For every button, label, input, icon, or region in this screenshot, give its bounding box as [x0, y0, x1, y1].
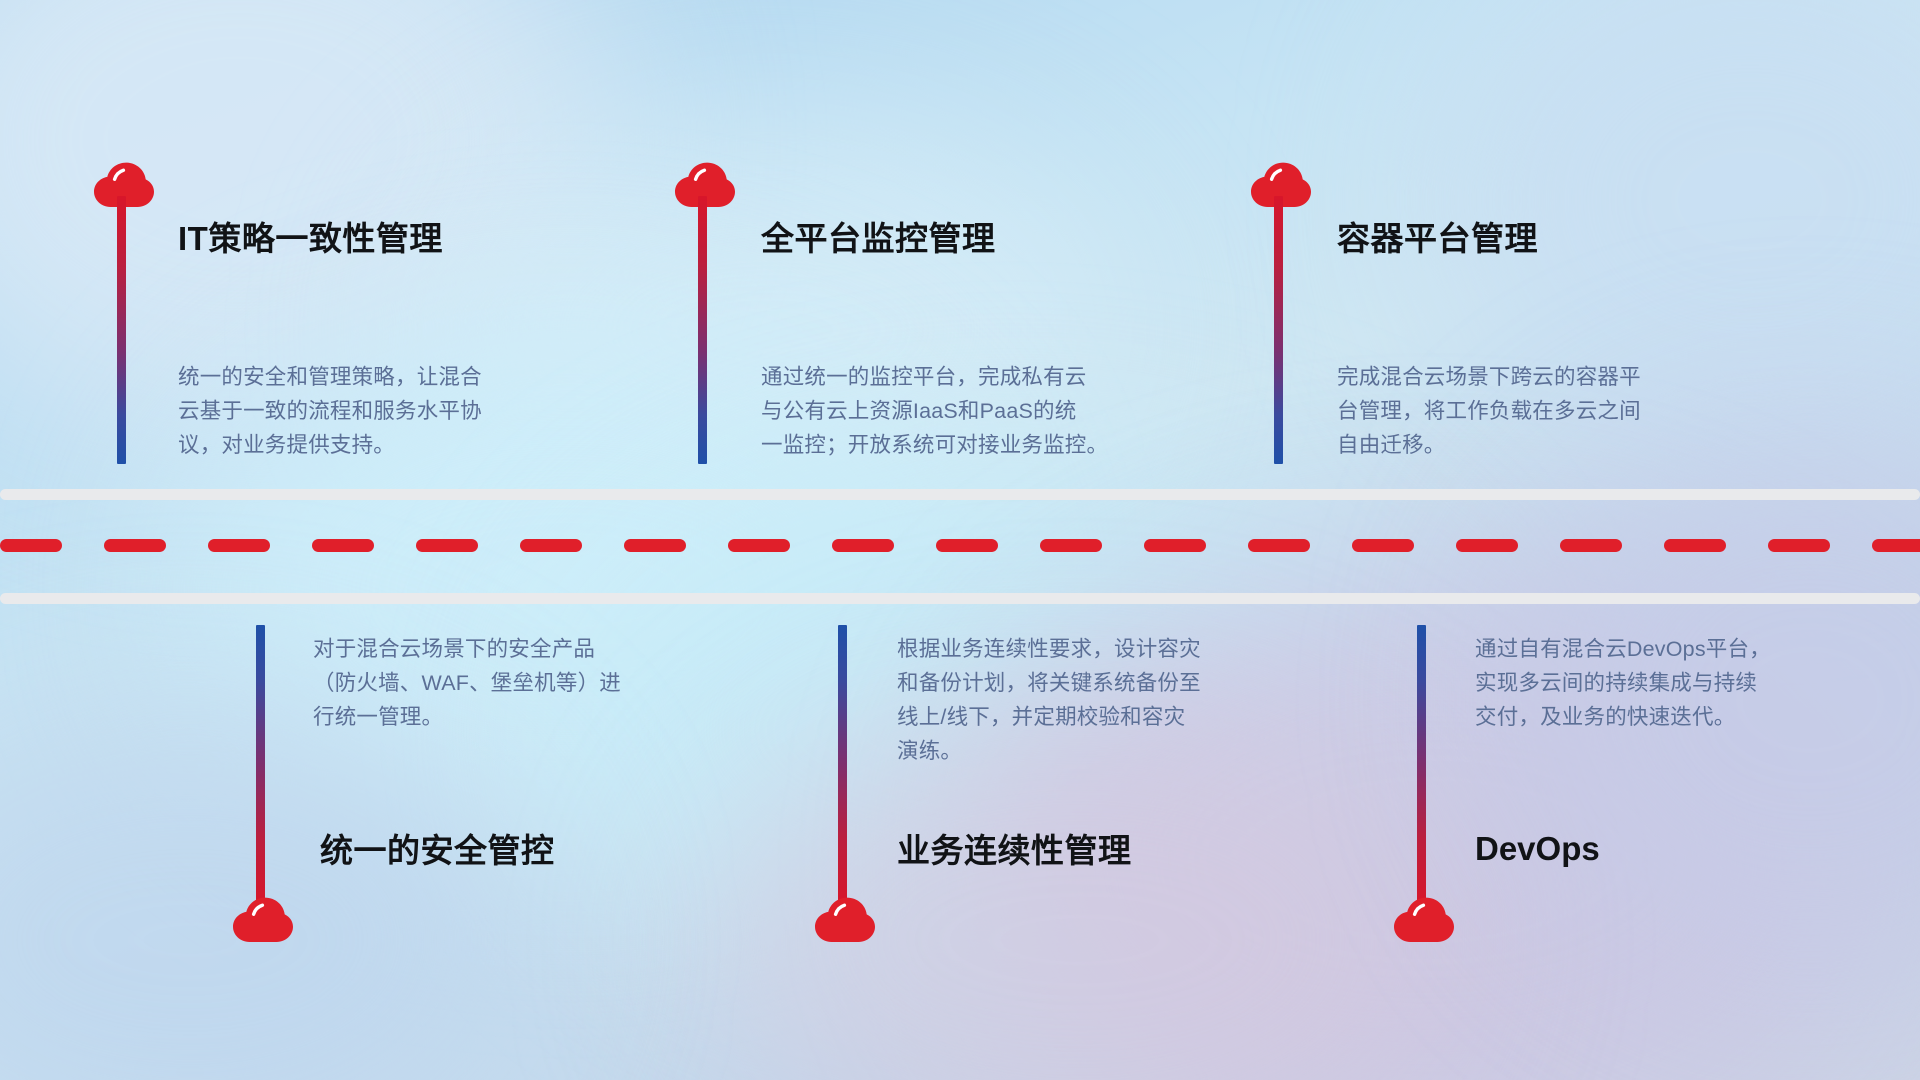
bottom-title-2: 业务连续性管理 — [897, 834, 1132, 867]
road-dash-segment — [520, 539, 582, 552]
top-title-3: 容器平台管理 — [1337, 222, 1538, 255]
top-body-2: 通过统一的监控平台，完成私有云 与公有云上资源IaaS和PaaS的统 一监控；开… — [761, 360, 1201, 462]
bottom-body-1: 对于混合云场景下的安全产品 （防火墙、WAF、堡垒机等）进 行统一管理。 — [313, 632, 743, 734]
connector-stem — [1274, 196, 1283, 464]
road-dash-segment — [1768, 539, 1830, 552]
road-dash-segment — [208, 539, 270, 552]
road-center-dashed-line — [0, 539, 1920, 552]
top-body-3: 完成混合云场景下跨云的容器平 台管理，将工作负载在多云之间 自由迁移。 — [1337, 360, 1777, 462]
road-line-lower — [0, 593, 1920, 604]
bottom-body-3: 通过自有混合云DevOps平台， 实现多云间的持续集成与持续 交付，及业务的快速… — [1475, 632, 1905, 734]
road-dash-segment — [1352, 539, 1414, 552]
road-dash-segment — [104, 539, 166, 552]
road-dash-segment — [1040, 539, 1102, 552]
top-title-2: 全平台监控管理 — [761, 222, 996, 255]
road-dash-segment — [1664, 539, 1726, 552]
bottom-body-2: 根据业务连续性要求，设计容灾 和备份计划，将关键系统备份至 线上/线下，并定期校… — [897, 632, 1327, 768]
connector-stem — [1417, 625, 1426, 905]
road-dash-segment — [936, 539, 998, 552]
bottom-title-1: 统一的安全管控 — [320, 834, 555, 867]
cloud-icon — [811, 893, 875, 943]
road-dash-segment — [416, 539, 478, 552]
bottom-title-3: DevOps — [1475, 832, 1600, 865]
road-dash-segment — [1144, 539, 1206, 552]
road-dash-segment — [832, 539, 894, 552]
cloud-icon — [229, 893, 293, 943]
connector-stem — [117, 196, 126, 464]
road-line-upper — [0, 489, 1920, 500]
top-body-1: 统一的安全和管理策略，让混合 云基于一致的流程和服务水平协 议，对业务提供支持。 — [178, 360, 598, 462]
road-dash-segment — [0, 539, 62, 552]
road-dash-segment — [1248, 539, 1310, 552]
road-dash-segment — [1872, 539, 1920, 552]
infographic-canvas: IT策略一致性管理 统一的安全和管理策略，让混合 云基于一致的流程和服务水平协 … — [0, 0, 1920, 1080]
top-title-1: IT策略一致性管理 — [178, 222, 443, 255]
road-dash-segment — [728, 539, 790, 552]
road-dash-segment — [1560, 539, 1622, 552]
connector-stem — [698, 196, 707, 464]
road-dash-segment — [624, 539, 686, 552]
connector-stem — [256, 625, 265, 905]
cloud-icon — [1390, 893, 1454, 943]
road-dash-segment — [312, 539, 374, 552]
connector-stem — [838, 625, 847, 905]
road-dash-segment — [1456, 539, 1518, 552]
